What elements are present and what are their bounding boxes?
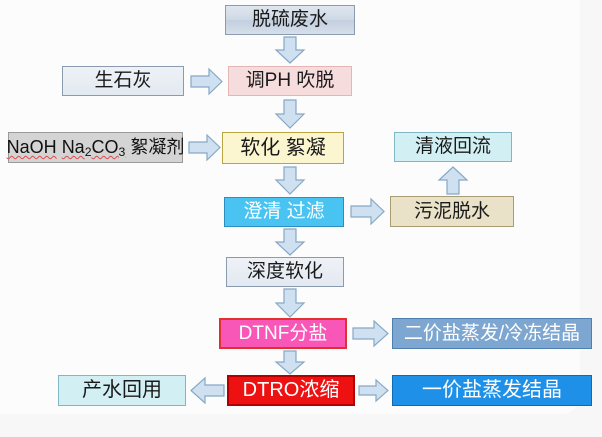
- node-adjust-ph-stripping[interactable]: 调PH 吹脱: [228, 66, 352, 96]
- node-label: 清液回流: [415, 137, 491, 157]
- node-label: 脱硫废水: [252, 10, 328, 30]
- arrow-reagents-to-soften-icon: [188, 133, 222, 162]
- arrow-ph-to-soften-icon: [274, 99, 306, 130]
- node-label: 软化 絮凝: [240, 138, 326, 159]
- node-product-water-reuse[interactable]: 产水回用: [58, 375, 186, 406]
- node-divalent-salt-evaporation-freeze-crystallization[interactable]: 二价盐蒸发/冷冻结晶: [392, 318, 592, 349]
- node-label: 生石灰: [94, 71, 151, 91]
- arrow-dtro-to-monovalent-icon: [358, 378, 390, 403]
- node-dtnf-salt-separation[interactable]: DTNF分盐: [219, 318, 347, 349]
- node-deep-softening[interactable]: 深度软化: [226, 257, 344, 287]
- node-label: 污泥脱水: [414, 202, 490, 222]
- node-clarification-filtration[interactable]: 澄清 过滤: [224, 197, 344, 227]
- node-label: 产水回用: [82, 380, 162, 401]
- arrow-desulf-to-ph-icon: [274, 36, 306, 65]
- node-label: 深度软化: [247, 262, 323, 282]
- arrow-sludge-to-clear-return-icon: [437, 165, 469, 196]
- arrow-dtro-to-product-water-icon: [189, 376, 225, 405]
- node-softening-flocculation[interactable]: 软化 絮凝: [222, 132, 344, 164]
- node-sludge-dewatering[interactable]: 污泥脱水: [390, 196, 514, 227]
- node-label: 二价盐蒸发/冷冻结晶: [404, 324, 580, 344]
- node-label: NaOH Na2CO3 絮凝剂: [7, 138, 185, 157]
- arrow-clarify-to-sludge-icon: [350, 197, 386, 226]
- node-clear-liquid-return[interactable]: 清液回流: [394, 132, 512, 162]
- node-dtro-concentration[interactable]: DTRO浓缩: [227, 375, 355, 406]
- node-quicklime[interactable]: 生石灰: [62, 66, 184, 96]
- arrow-quicklime-to-ph-icon: [190, 67, 224, 96]
- flowchart-canvas: 脱硫废水 生石灰 调PH 吹脱 NaOH Na2CO3 絮凝剂 软化 絮凝 清液…: [0, 0, 602, 437]
- node-label: 澄清 过滤: [243, 202, 324, 222]
- node-label: DTRO浓缩: [243, 380, 340, 401]
- arrow-dtnf-to-dtro-icon: [274, 350, 306, 376]
- node-label: 调PH 吹脱: [246, 71, 335, 91]
- node-reagents-naoh-na2co3-flocculant[interactable]: NaOH Na2CO3 絮凝剂: [8, 132, 183, 163]
- arrow-deep-soften-to-dtnf-icon: [274, 288, 306, 319]
- node-label: DTNF分盐: [239, 324, 328, 344]
- arrow-dtnf-to-divalent-icon: [352, 319, 390, 348]
- node-monovalent-salt-evaporation-crystallization[interactable]: 一价盐蒸发结晶: [392, 375, 592, 406]
- reagent-flocculant: 絮凝剂: [125, 137, 184, 157]
- reagent-naoh: NaOH: [7, 137, 57, 157]
- node-label: 一价盐蒸发结晶: [422, 380, 562, 401]
- arrow-clarify-to-deep-soften-icon: [274, 228, 306, 257]
- arrow-soften-to-clarify-icon: [274, 166, 306, 196]
- reagent-na2co3: Na2CO3: [62, 137, 126, 157]
- node-desulfurization-wastewater[interactable]: 脱硫废水: [225, 5, 355, 35]
